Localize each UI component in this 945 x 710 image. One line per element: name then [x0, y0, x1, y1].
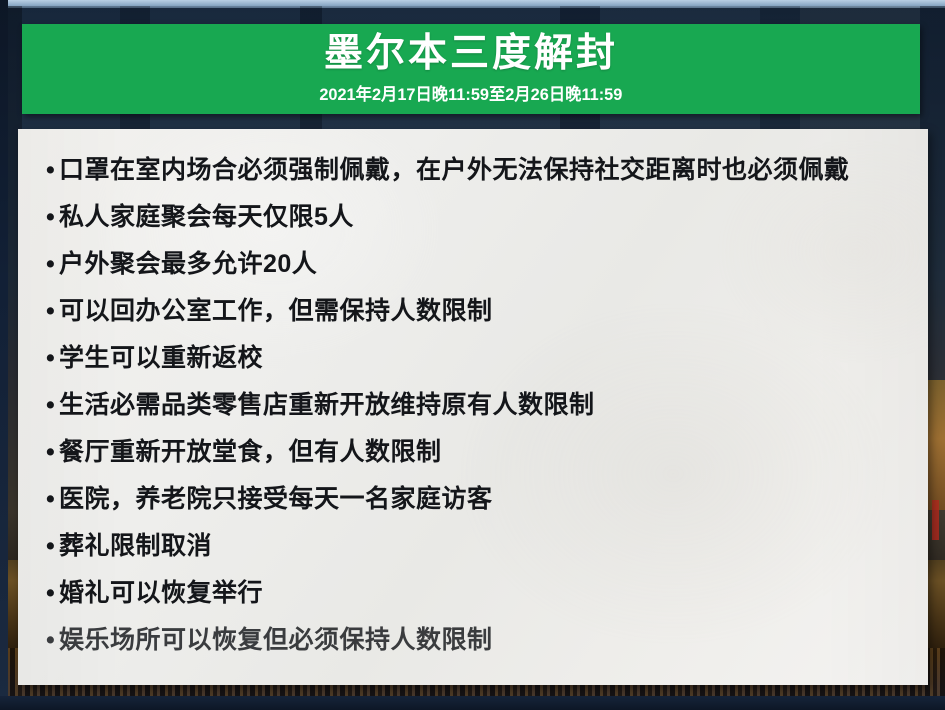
background-left-edge — [0, 0, 8, 710]
bullet-dot-icon: • — [46, 429, 59, 476]
list-item-label: 户外聚会最多允许20人 — [59, 241, 317, 288]
list-item: •生活必需品类零售店重新开放维持原有人数限制 — [18, 382, 928, 429]
list-item-label: 葬礼限制取消 — [59, 523, 212, 570]
content-panel: •口罩在室内场合必须强制佩戴，在户外无法保持社交距离时也必须佩戴•私人家庭聚会每… — [18, 129, 928, 685]
bullet-dot-icon: • — [46, 194, 59, 241]
bullet-dot-icon: • — [46, 147, 59, 194]
list-item: •可以回办公室工作，但需保持人数限制 — [18, 288, 928, 335]
list-item: •葬礼限制取消 — [18, 523, 928, 570]
list-item-label: 学生可以重新返校 — [59, 335, 263, 382]
list-item: •私人家庭聚会每天仅限5人 — [18, 194, 928, 241]
list-item-label: 可以回办公室工作，但需保持人数限制 — [59, 288, 493, 335]
header-banner: 墨尔本三度解封 2021年2月17日晚11:59至2月26日晚11:59 — [22, 24, 920, 114]
list-item-label: 私人家庭聚会每天仅限5人 — [59, 194, 354, 241]
list-item: •医院，养老院只接受每天一名家庭访客 — [18, 476, 928, 523]
list-item: •学生可以重新返校 — [18, 335, 928, 382]
slide-canvas: 墨尔本三度解封 2021年2月17日晚11:59至2月26日晚11:59 •口罩… — [0, 0, 945, 710]
bullet-dot-icon: • — [46, 335, 59, 382]
list-item-label: 娱乐场所可以恢复但必须保持人数限制 — [59, 617, 493, 664]
bullet-dot-icon: • — [46, 617, 59, 664]
date-range-subtitle: 2021年2月17日晚11:59至2月26日晚11:59 — [319, 80, 622, 105]
list-item: •餐厅重新开放堂食，但有人数限制 — [18, 429, 928, 476]
bullet-dot-icon: • — [46, 288, 59, 335]
bullet-dot-icon: • — [46, 241, 59, 288]
bullet-dot-icon: • — [46, 382, 59, 429]
bullet-dot-icon: • — [46, 523, 59, 570]
list-item-label: 餐厅重新开放堂食，但有人数限制 — [59, 429, 442, 476]
list-item: •娱乐场所可以恢复但必须保持人数限制 — [18, 617, 928, 664]
list-item-label: 生活必需品类零售店重新开放维持原有人数限制 — [59, 382, 595, 429]
list-item: •口罩在室内场合必须强制佩戴，在户外无法保持社交距离时也必须佩戴 — [18, 147, 928, 194]
background-bottom-edge — [0, 696, 945, 710]
page-title: 墨尔本三度解封 — [324, 33, 618, 75]
restrictions-list: •口罩在室内场合必须强制佩戴，在户外无法保持社交距离时也必须佩戴•私人家庭聚会每… — [18, 129, 928, 664]
list-item: •户外聚会最多允许20人 — [18, 241, 928, 288]
list-item-label: 口罩在室内场合必须强制佩戴，在户外无法保持社交距离时也必须佩戴 — [59, 147, 850, 194]
bullet-dot-icon: • — [46, 570, 59, 617]
list-item-label: 医院，养老院只接受每天一名家庭访客 — [59, 476, 493, 523]
list-item-label: 婚礼可以恢复举行 — [59, 570, 263, 617]
list-item: •婚礼可以恢复举行 — [18, 570, 928, 617]
bullet-dot-icon: • — [46, 476, 59, 523]
background-red-accent — [932, 500, 939, 540]
